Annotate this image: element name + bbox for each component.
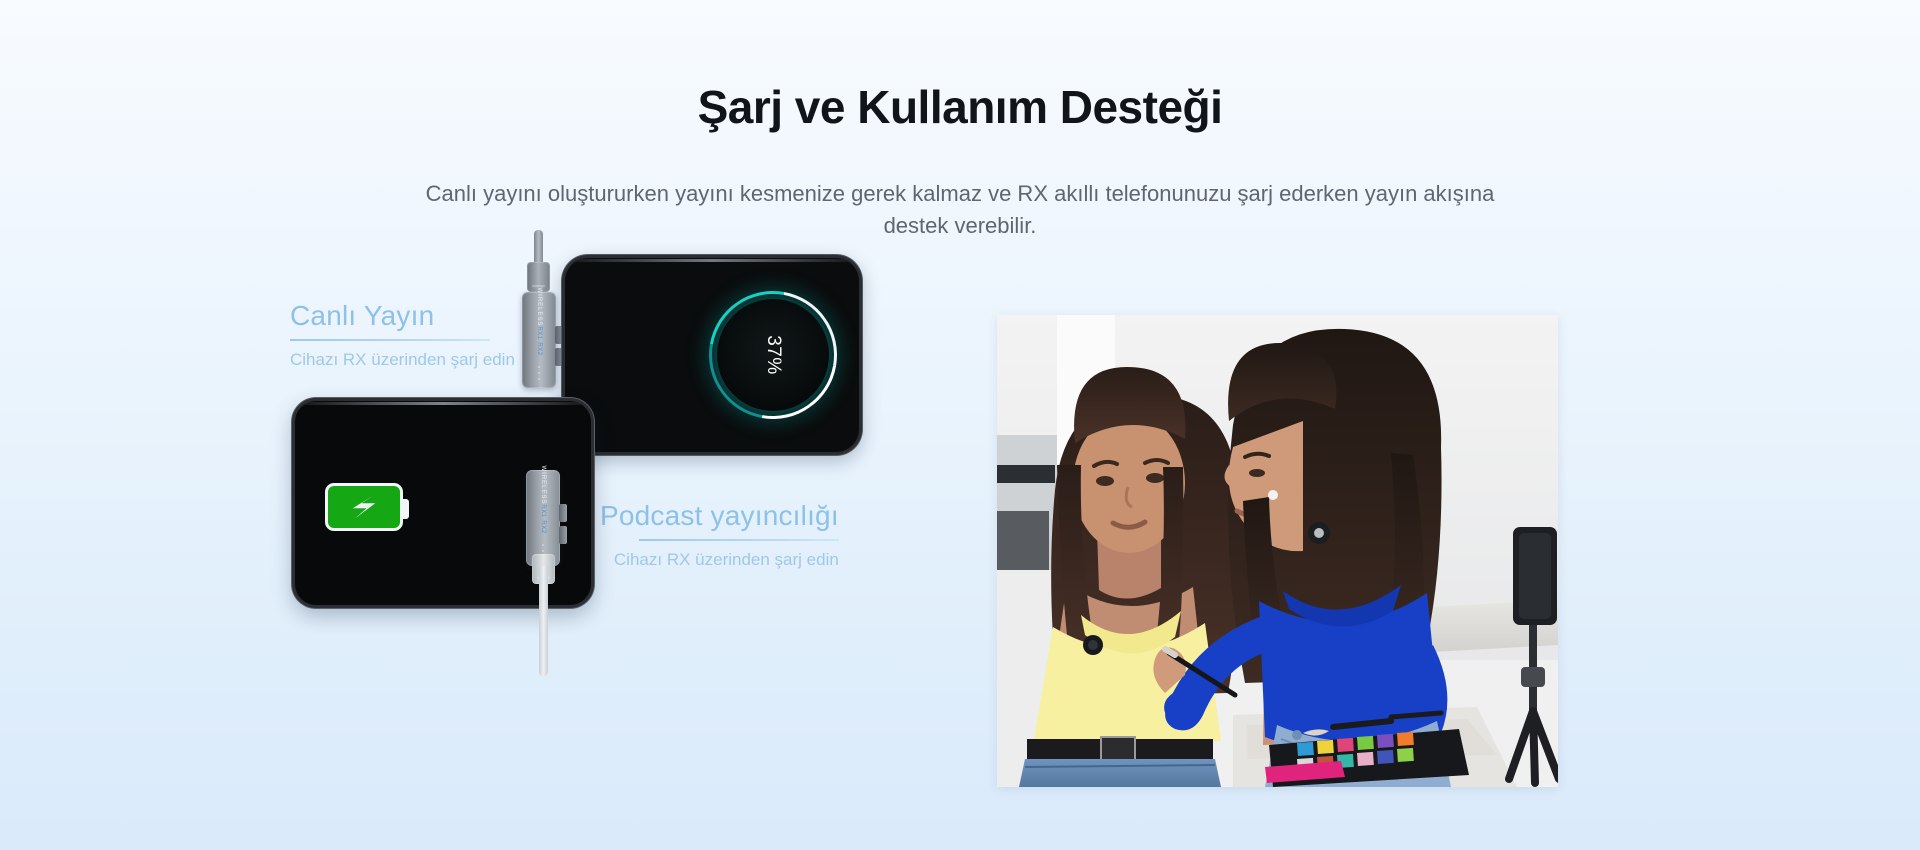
- adapter-port: [559, 504, 567, 522]
- live-stream-divider: [290, 339, 490, 341]
- adapter-indicator-dot: [542, 550, 544, 552]
- podcast-divider: [639, 539, 839, 541]
- charging-illustration: Canlı Yayın Cihazı RX üzerinden şarj edi…: [330, 270, 980, 800]
- page-title: Şarj ve Kullanım Desteği: [0, 80, 1920, 134]
- rx-adapter-lower: WIRELESS RX1 RX2: [526, 470, 560, 566]
- rx-adapter-upper: WIRELESS RX1 RX2: [522, 292, 556, 388]
- podcast-subtitle: Cihazı RX üzerinden şarj edin: [600, 550, 839, 570]
- adapter-indicator-dot: [538, 366, 540, 368]
- live-stream-subtitle: Cihazı RX üzerinden şarj edin: [290, 350, 515, 370]
- podcast-title: Podcast yayıncılığı: [600, 500, 839, 532]
- adapter-channel-2-label: RX2: [540, 520, 546, 533]
- lifestyle-photo: [997, 315, 1558, 787]
- live-stream-label-block: Canlı Yayın Cihazı RX üzerinden şarj edi…: [290, 300, 515, 370]
- adapter-indicator-dot: [538, 378, 540, 380]
- podcast-label-block: Podcast yayıncılığı Cihazı RX üzerinden …: [600, 500, 839, 570]
- usb-cable-lower: [539, 566, 548, 676]
- photo-illustration: [997, 315, 1558, 787]
- adapter-brand-label: WIRELESS: [536, 287, 542, 326]
- charge-ring: 37%: [709, 291, 837, 419]
- battery-icon: [325, 483, 403, 531]
- phone-charging-ring: 37%: [562, 255, 862, 455]
- battery-percent-text: 37%: [762, 335, 784, 375]
- adapter-brand-label: WIRELESS: [540, 465, 546, 504]
- adapter-channel-1-label: RX1: [540, 504, 546, 517]
- adapter-channel-2-label: RX2: [536, 342, 542, 355]
- adapter-indicator-dot: [538, 372, 540, 374]
- adapter-port: [559, 526, 567, 544]
- adapter-indicator-dot: [542, 544, 544, 546]
- page-subtitle: Canlı yayını oluştururken yayını kesmeni…: [395, 178, 1525, 242]
- adapter-channel-1-label: RX1: [536, 326, 542, 339]
- lightning-bolt-icon: [349, 492, 379, 522]
- live-stream-title: Canlı Yayın: [290, 300, 515, 332]
